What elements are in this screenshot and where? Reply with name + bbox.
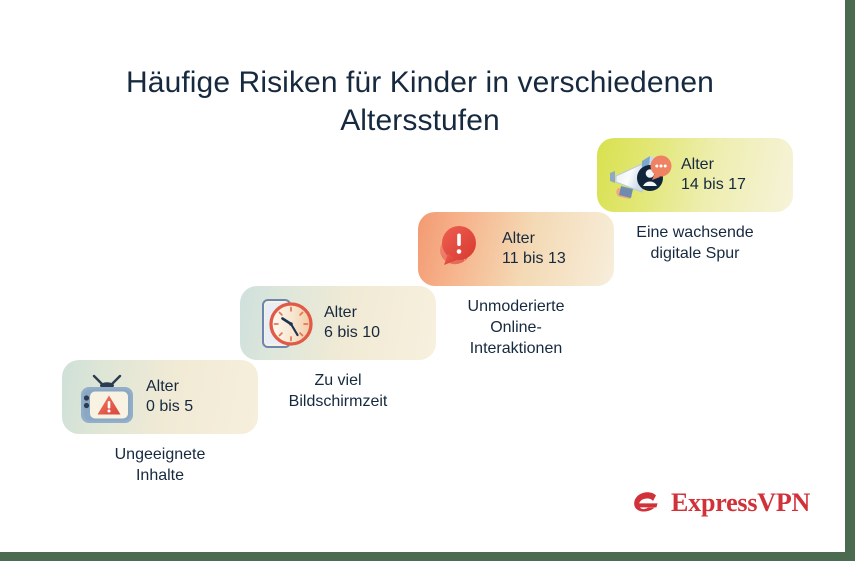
age-step-11-13: Alter 11 bis 13 Unmoderierte Online- Int…: [418, 212, 614, 359]
expressvpn-e-mark-icon: [630, 487, 662, 519]
expressvpn-wordmark: ExpressVPN: [671, 488, 810, 518]
age-step-card: Alter 14 bis 17: [597, 138, 793, 212]
age-step-label: Alter 0 bis 5: [144, 377, 193, 417]
age-step-caption: Eine wachsende digitale Spur: [597, 222, 793, 264]
phone-clock-icon: [248, 286, 322, 360]
age-step-6-10: Alter 6 bis 10 Zu viel Bildschirmzeit: [240, 286, 436, 412]
page-frame-right-bar: [845, 0, 855, 561]
chat-bubbles-alert-icon: [426, 212, 500, 286]
age-step-card: Alter 11 bis 13: [418, 212, 614, 286]
tv-warning-icon: [70, 360, 144, 434]
expressvpn-logo: ExpressVPN: [630, 487, 810, 519]
age-step-caption: Unmoderierte Online- Interaktionen: [418, 296, 614, 359]
page-frame-bottom-bar: [0, 552, 855, 561]
age-step-card: Alter 0 bis 5: [62, 360, 258, 434]
age-step-label: Alter 14 bis 17: [679, 155, 746, 195]
age-step-card: Alter 6 bis 10: [240, 286, 436, 360]
megaphone-profile-icon: [605, 138, 679, 212]
age-step-14-17: Alter 14 bis 17 Eine wachsende digitale …: [597, 138, 793, 264]
age-step-0-5: Alter 0 bis 5 Ungeeignete Inhalte: [62, 360, 258, 486]
age-risk-staircase: Alter 0 bis 5 Ungeeignete Inhalte: [0, 0, 845, 552]
age-step-label: Alter 11 bis 13: [500, 229, 566, 269]
age-step-caption: Zu viel Bildschirmzeit: [240, 370, 436, 412]
age-step-label: Alter 6 bis 10: [322, 303, 380, 343]
age-step-caption: Ungeeignete Inhalte: [62, 444, 258, 486]
